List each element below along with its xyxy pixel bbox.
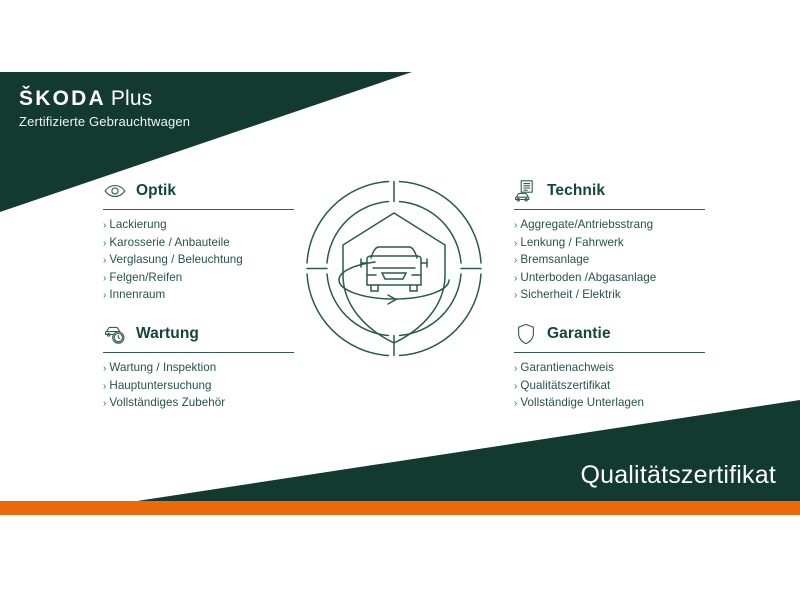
section-wartung-divider [103,352,294,353]
list-item-label: Verglasung / Beleuchtung [109,253,242,266]
list-item: ›Karosserie / Anbauteile [103,235,303,253]
list-item: ›Lackierung [103,217,303,235]
shield-icon [514,322,538,346]
chevron-right-icon: › [514,273,517,284]
list-item: ›Innenraum [103,287,303,305]
chevron-right-icon: › [103,290,106,301]
list-item-label: Karosserie / Anbauteile [109,236,229,249]
chevron-right-icon: › [103,381,106,392]
list-item: ›Vollständige Unterlagen [514,395,714,413]
brand-tagline: Zertifizierte Gebrauchtwagen [19,115,190,128]
list-item-label: Aggregate/Antriebsstrang [520,218,653,231]
list-item: ›Sicherheit / Elektrik [514,287,714,305]
list-item: ›Vollständiges Zubehör [103,395,303,413]
list-item: ›Aggregate/Antriebsstrang [514,217,714,235]
chevron-right-icon: › [514,255,517,266]
chevron-right-icon: › [514,290,517,301]
section-technik: Technik ›Aggregate/Antriebsstrang ›Lenku… [514,178,714,305]
list-item: ›Hauptuntersuchung [103,378,303,396]
list-item-label: Garantienachweis [520,361,614,374]
car-clock-icon [103,322,127,346]
section-garantie-list: ›Garantienachweis ›Qualitätszertifikat ›… [514,360,714,413]
list-item-label: Sicherheit / Elektrik [520,288,620,301]
chevron-right-icon: › [103,363,106,374]
list-item-label: Vollständiges Zubehör [109,396,225,409]
list-item: ›Wartung / Inspektion [103,360,303,378]
list-item-label: Bremsanlage [520,253,589,266]
list-item: ›Bremsanlage [514,252,714,270]
section-optik-title: Optik [136,182,176,200]
list-item-label: Wartung / Inspektion [109,361,216,374]
section-technik-list: ›Aggregate/Antriebsstrang ›Lenkung / Fah… [514,217,714,305]
chevron-right-icon: › [514,220,517,231]
list-item: ›Unterboden /Abgasanlage [514,270,714,288]
list-item: ›Felgen/Reifen [103,270,303,288]
brand-logo: ŠKODAPlus [19,88,190,109]
section-optik: Optik ›Lackierung ›Karosserie / Anbautei… [103,178,303,305]
section-garantie-title: Garantie [547,325,611,343]
chevron-right-icon: › [103,255,106,266]
section-optik-list: ›Lackierung ›Karosserie / Anbauteile ›Ve… [103,217,303,305]
section-wartung: Wartung ›Wartung / Inspektion ›Hauptunte… [103,321,303,413]
section-technik-title: Technik [547,182,605,200]
list-item-label: Innenraum [109,288,165,301]
brand-wordmark: ŠKODA [19,87,106,110]
section-garantie-header: Garantie [514,321,714,347]
section-garantie-divider [514,352,705,353]
list-item: ›Qualitätszertifikat [514,378,714,396]
car-document-icon [514,179,538,203]
chevron-right-icon: › [514,238,517,249]
chevron-right-icon: › [514,381,517,392]
section-optik-header: Optik [103,178,303,204]
chevron-right-icon: › [103,273,106,284]
list-item-label: Unterboden /Abgasanlage [520,271,656,284]
brand-block: ŠKODAPlus Zertifizierte Gebrauchtwagen [19,88,190,128]
section-technik-header: Technik [514,178,714,204]
list-item-label: Vollständige Unterlagen [520,396,644,409]
list-item-label: Hauptuntersuchung [109,379,211,392]
section-garantie: Garantie ›Garantienachweis ›Qualitätszer… [514,321,714,413]
section-wartung-header: Wartung [103,321,303,347]
chevron-right-icon: › [103,220,106,231]
chevron-right-icon: › [514,363,517,374]
chevron-right-icon: › [103,398,106,409]
section-wartung-title: Wartung [136,325,199,343]
certified-vehicle-emblem [305,163,490,378]
section-optik-divider [103,209,294,210]
section-technik-divider [514,209,705,210]
section-wartung-list: ›Wartung / Inspektion ›Hauptuntersuchung… [103,360,303,413]
list-item: ›Verglasung / Beleuchtung [103,252,303,270]
chevron-right-icon: › [103,238,106,249]
list-item: ›Lenkung / Fahrwerk [514,235,714,253]
certificate-page: ŠKODAPlus Zertifizierte Gebrauchtwagen O… [0,0,800,600]
list-item-label: Qualitätszertifikat [520,379,610,392]
list-item: ›Garantienachweis [514,360,714,378]
chevron-right-icon: › [514,398,517,409]
list-item-label: Lenkung / Fahrwerk [520,236,623,249]
eye-icon [103,179,127,203]
list-item-label: Felgen/Reifen [109,271,182,284]
list-item-label: Lackierung [109,218,166,231]
orange-accent-bar [0,501,800,515]
footer-title: Qualitätszertifikat [580,461,776,490]
brand-plus-label: Plus [111,87,153,110]
